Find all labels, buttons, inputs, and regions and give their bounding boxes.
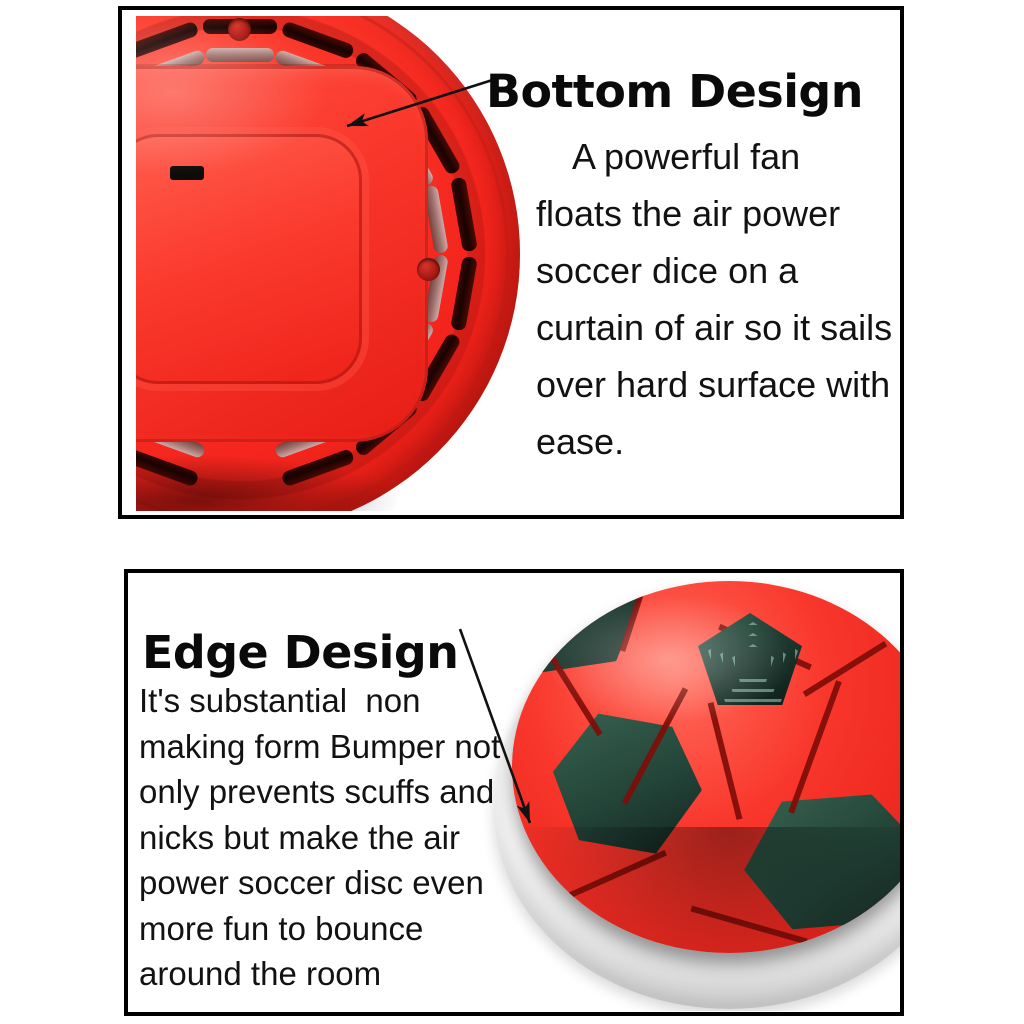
seam-5 [788, 680, 842, 814]
infographic-page: Bottom Design A powerful fan floats the … [0, 0, 1024, 1024]
seam-8 [555, 850, 667, 904]
soccer-disc-graphic [494, 579, 900, 1011]
hover-soccer-disc-top-photo [482, 579, 900, 1011]
panel-edge-design-heading: Edge Design [142, 630, 458, 675]
disc-screw-hole-right [417, 258, 440, 281]
dark-patch-left [545, 710, 708, 861]
panel-bottom-design: Bottom Design A powerful fan floats the … [118, 6, 904, 519]
panel-edge-design: Edge Design It's substantial non making … [124, 569, 904, 1016]
dark-patch-bottom-right [735, 783, 900, 943]
panel-edge-design-body: It's substantial non making form Bumper … [139, 678, 524, 997]
soccer-pattern-face [512, 581, 900, 953]
panel-bottom-design-heading: Bottom Design [486, 69, 863, 114]
dark-patch-right [886, 620, 900, 756]
disc-underside-graphic [136, 16, 520, 511]
seam-7 [803, 641, 888, 697]
hover-soccer-disc-underside-photo [136, 16, 536, 511]
panel-bottom-design-body: A powerful fan floats the air power socc… [536, 128, 896, 470]
center-fan-grille [698, 613, 802, 705]
seam-4 [708, 702, 743, 820]
